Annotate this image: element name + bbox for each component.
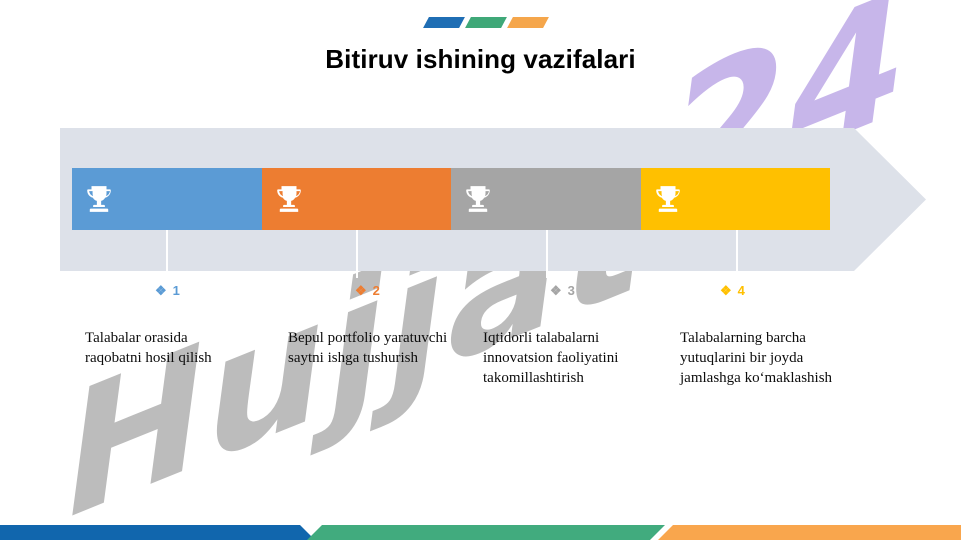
top-accent-bar-1 (423, 17, 465, 28)
connector-stems (0, 230, 961, 285)
bottom-accent-bar-3 (658, 525, 961, 540)
step-segment-4[interactable] (641, 168, 831, 230)
top-accent-bar-2 (465, 17, 507, 28)
step-number-2: ❖ 2 (355, 283, 380, 298)
step-segment-3[interactable] (451, 168, 641, 230)
step-number-label: 4 (738, 283, 745, 298)
bottom-accent-bars (0, 522, 961, 540)
step-number-label: 1 (173, 283, 180, 298)
page-title: Bitiruv ishining vazifalari (0, 44, 961, 75)
diamond-bullet-icon: ❖ (355, 284, 367, 297)
step-number-label: 2 (373, 283, 380, 298)
top-accent-bars (426, 17, 546, 28)
diamond-bullet-icon: ❖ (720, 284, 732, 297)
step-number-row: ❖ 1 ❖ 2 ❖ 3 ❖ 4 (85, 283, 885, 307)
step-segment-1[interactable] (72, 168, 262, 230)
step-description-2: Bepul portfolio yaratuvchi saytni ishga … (288, 328, 448, 368)
step-segment-2[interactable] (262, 168, 452, 230)
step-number-3: ❖ 3 (550, 283, 575, 298)
step-description-3: Iqtidorli talabalarni innovatsion faoliy… (483, 328, 638, 388)
connector-stem-1 (166, 230, 168, 278)
trophy-icon (655, 184, 681, 214)
step-number-label: 3 (568, 283, 575, 298)
trophy-icon (276, 184, 302, 214)
diamond-bullet-icon: ❖ (550, 284, 562, 297)
step-description-4: Talabalarning barcha yutuqlarini bir joy… (680, 328, 845, 388)
connector-stem-4 (736, 230, 738, 278)
bottom-accent-bar-1 (0, 525, 315, 540)
slide-canvas: Hujjat 24 Bitiruv ishining vazifalari (0, 0, 961, 540)
bottom-accent-bar-2 (307, 525, 665, 540)
trophy-icon (465, 184, 491, 214)
step-description-1: Talabalar orasida raqobatni hosil qilish (85, 328, 235, 368)
step-description-row: Talabalar orasida raqobatni hosil qilish… (85, 328, 915, 428)
trophy-icon (86, 184, 112, 214)
connector-stem-3 (546, 230, 548, 278)
top-accent-bar-3 (507, 17, 549, 28)
step-number-4: ❖ 4 (720, 283, 745, 298)
step-segments (72, 168, 830, 230)
connector-stem-2 (356, 230, 358, 278)
step-number-1: ❖ 1 (155, 283, 180, 298)
diamond-bullet-icon: ❖ (155, 284, 167, 297)
